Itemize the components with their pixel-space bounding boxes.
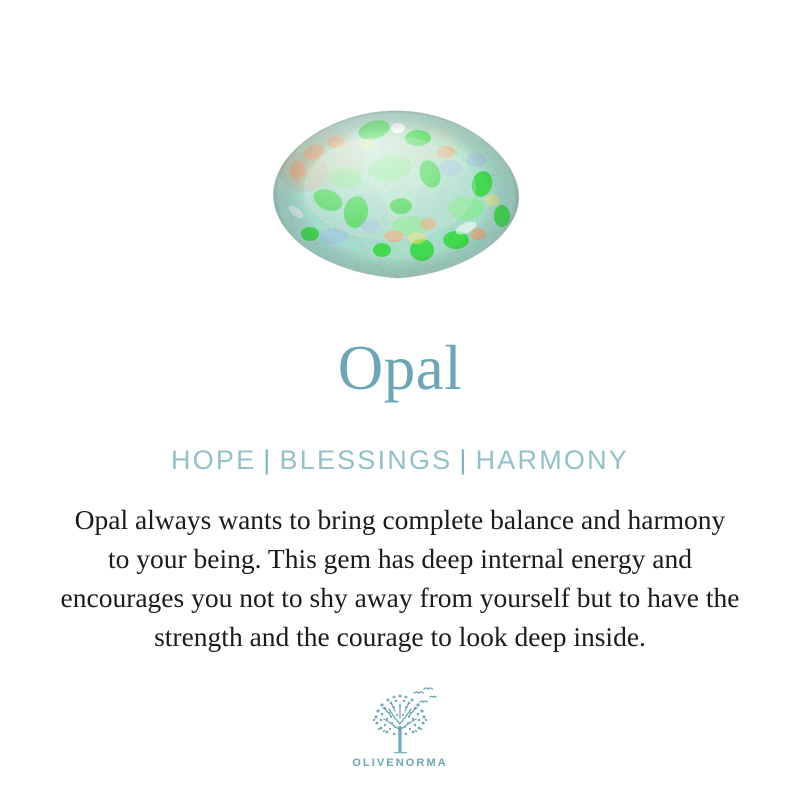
gemstone-description: Opal always wants to bring complete bala… [16,500,784,656]
brand-logo: OLIVENORMA [0,686,800,769]
gemstone-keywords: HOPE|BLESSINGS|HARMONY [0,444,800,476]
keyword-harmony: HARMONY [476,445,629,475]
description-line-2: to your being. This gem has deep interna… [16,539,784,578]
opal-gemstone-image [270,108,522,282]
gemstone-title: Opal [0,332,800,404]
keyword-separator-1: | [256,445,279,475]
description-line-3: encourages you not to shy away from your… [16,578,784,617]
gemstone-info-card: Opal HOPE|BLESSINGS|HARMONY Opal always … [0,0,800,800]
description-line-1: Opal always wants to bring complete bala… [16,500,784,539]
keyword-blessings: BLESSINGS [280,445,453,475]
brand-wordmark: OLIVENORMA [352,757,448,769]
description-line-4: strength and the courage to look deep in… [16,617,784,656]
keyword-hope: HOPE [171,445,256,475]
tree-with-birds-icon [358,686,442,754]
keyword-separator-2: | [452,445,475,475]
